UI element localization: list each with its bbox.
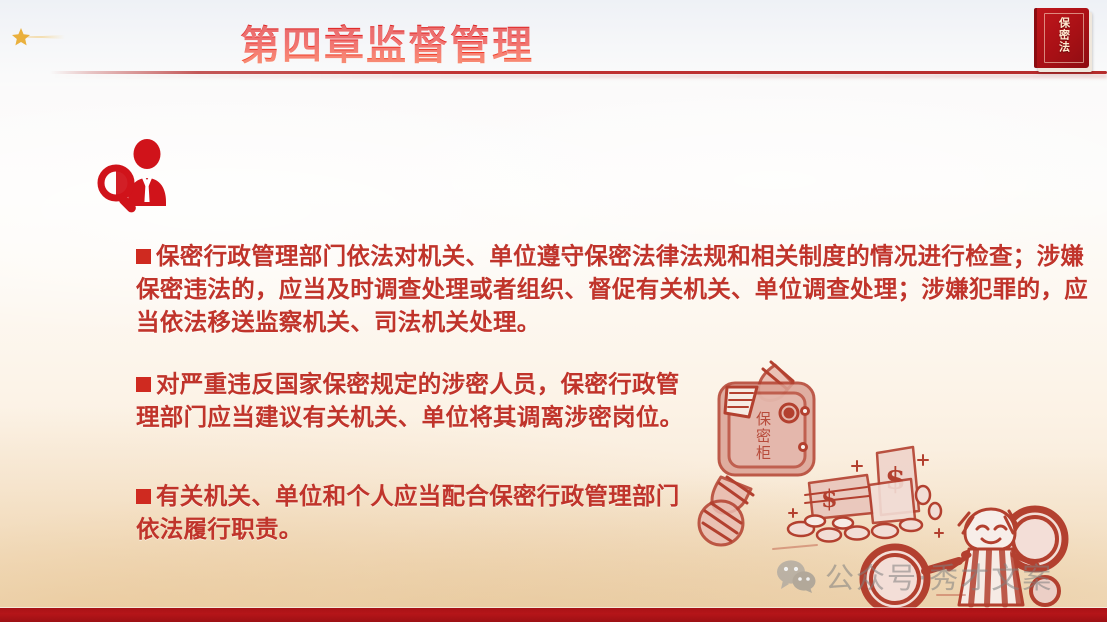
list-item: 保密行政管理部门依法对机关、单位遵守保密法律法规和相关制度的情况进行检查；涉嫌保… [136,240,1094,339]
list-item: 有关机关、单位和个人应当配合保密行政管理部门依法履行职责。 [136,480,696,546]
bullet-text: 对严重违反国家保密规定的涉密人员，保密行政管理部门应当建议有关机关、单位将其调离… [136,371,683,430]
header-divider-shadow [50,74,1107,78]
book-cover: 保密法 [1034,8,1089,68]
bullet-text: 保密行政管理部门依法对机关、单位遵守保密法律法规和相关制度的情况进行检查；涉嫌保… [136,243,1088,335]
bullet-list: 保密行政管理部门依法对机关、单位遵守保密法律法规和相关制度的情况进行检查；涉嫌保… [136,240,1096,546]
page-title: 第四章监督管理 [240,13,534,71]
square-bullet-icon [136,489,151,504]
square-bullet-icon [136,377,151,392]
slide-root: 第四章监督管理 保密法 保密行政管理部门依法对机关、单位遵守保密法律法规和相关制… [0,0,1107,622]
square-bullet-icon [136,249,151,264]
list-item: 对严重违反国家保密规定的涉密人员，保密行政管理部门应当建议有关机关、单位将其调离… [136,368,696,434]
person-with-magnifier-icon [95,138,189,220]
secrecy-law-book-icon: 保密法 [1034,8,1094,74]
bullet-text: 有关机关、单位和个人应当配合保密行政管理部门依法履行职责。 [136,483,680,542]
book-title-label: 保密法 [1057,17,1070,53]
bottom-accent-bar [0,608,1107,622]
